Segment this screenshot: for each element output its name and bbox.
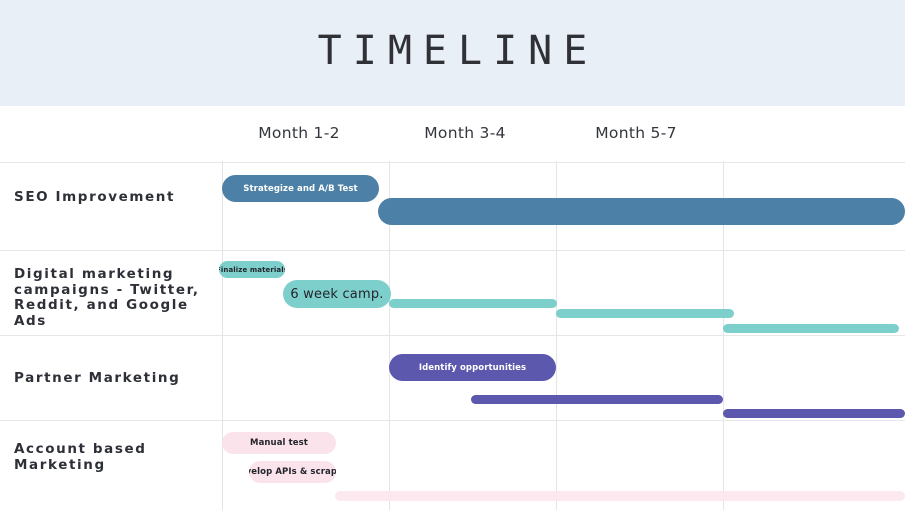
dm-finalize-materials-bar[interactable]: Finalize materials xyxy=(219,261,285,278)
row-label: Partner Marketing xyxy=(14,371,214,387)
timeline-row: Partner MarketingIdentify opportunities xyxy=(0,335,905,420)
row-label: Digital marketing campaigns - Twitter, R… xyxy=(14,267,214,329)
timeline-row: Account based MarketingManual testDevelo… xyxy=(0,420,905,510)
rows-layer: SEO ImprovementStrategize and A/B TestDi… xyxy=(0,162,905,510)
dm-campaign-bar-3[interactable] xyxy=(723,324,899,333)
timeline-row: Digital marketing campaigns - Twitter, R… xyxy=(0,250,905,335)
header-band: TIMELINE xyxy=(0,0,905,106)
column-headers: Month 1-2Month 3-4Month 5-7 xyxy=(0,106,905,162)
abm-develop-apis-bar[interactable]: Develop APIs & scrapers xyxy=(249,461,336,483)
dm-six-week-camp-bar[interactable]: 6 week camp. xyxy=(283,280,391,308)
bar-label: 6 week camp. xyxy=(290,287,383,302)
pm-identify-opportunities-bar[interactable]: Identify opportunities xyxy=(389,354,556,381)
bar-label: Manual test xyxy=(250,438,308,448)
page-title: TIMELINE xyxy=(0,29,905,73)
bar-label: Identify opportunities xyxy=(419,363,526,373)
dm-campaign-bar-1[interactable] xyxy=(389,299,557,308)
row-label: Account based Marketing xyxy=(14,442,214,473)
bar-label: Strategize and A/B Test xyxy=(243,184,357,194)
pm-outreach-bar-2[interactable] xyxy=(723,409,905,418)
seo-strategize-bar[interactable]: Strategize and A/B Test xyxy=(222,175,379,202)
row-label: SEO Improvement xyxy=(14,190,214,206)
dm-campaign-bar-2[interactable] xyxy=(556,309,734,318)
bar-label: Develop APIs & scrapers xyxy=(249,467,336,477)
bar-label: Finalize materials xyxy=(219,266,285,274)
column-header-3: Month 5-7 xyxy=(536,124,736,142)
seo-long-bar[interactable] xyxy=(378,198,905,225)
timeline-row: SEO ImprovementStrategize and A/B Test xyxy=(0,162,905,250)
abm-long-bar[interactable] xyxy=(335,491,905,501)
timeline-chart: TIMELINE Month 1-2Month 3-4Month 5-7 SEO… xyxy=(0,0,905,510)
pm-outreach-bar-1[interactable] xyxy=(471,395,723,404)
abm-manual-test-bar[interactable]: Manual test xyxy=(222,432,336,454)
column-header-2: Month 3-4 xyxy=(365,124,565,142)
